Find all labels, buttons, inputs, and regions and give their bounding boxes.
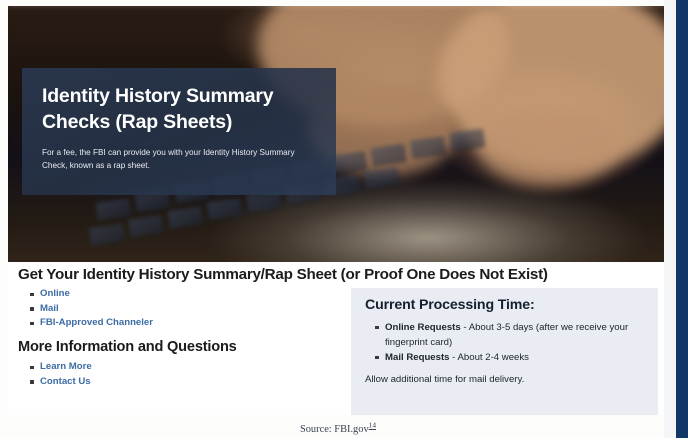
list-item[interactable]: Online bbox=[40, 287, 153, 302]
link-contact-us[interactable]: Contact Us bbox=[40, 376, 91, 387]
panel-title: Current Processing Time: bbox=[365, 297, 644, 313]
source-reference-number[interactable]: 14 bbox=[369, 421, 376, 430]
source-citation: Source: FBI.gov14 bbox=[300, 424, 376, 435]
link-mail[interactable]: Mail bbox=[40, 303, 59, 314]
panel-note: Allow additional time for mail delivery. bbox=[365, 373, 644, 387]
get-rap-sheet-link-list: Online Mail FBI-Approved Channeler bbox=[8, 287, 153, 331]
hero-subtitle: For a fee, the FBI can provide you with … bbox=[42, 147, 310, 172]
source-text: Source: FBI.gov bbox=[300, 424, 369, 435]
page-root: Identity History Summary Checks (Rap She… bbox=[0, 0, 688, 438]
content-area: Get Your Identity History Summary/Rap Sh… bbox=[8, 263, 668, 415]
mail-requests-value: - About 2-4 weeks bbox=[450, 352, 529, 363]
hero-banner: Identity History Summary Checks (Rap She… bbox=[8, 6, 668, 262]
more-information-title: More Information and Questions bbox=[18, 339, 237, 355]
online-requests-label: Online Requests bbox=[385, 322, 461, 333]
list-item: Mail Requests - About 2-4 weeks bbox=[385, 350, 644, 365]
processing-time-list: Online Requests - About 3-5 days (after … bbox=[365, 320, 644, 365]
footer: Source: FBI.gov14 bbox=[0, 416, 676, 438]
link-fbi-approved-channeler[interactable]: FBI-Approved Channeler bbox=[40, 317, 153, 328]
list-item[interactable]: Mail bbox=[40, 302, 153, 317]
right-gutter bbox=[664, 0, 676, 438]
current-processing-time-panel: Current Processing Time: Online Requests… bbox=[351, 288, 658, 415]
hero-text-card: Identity History Summary Checks (Rap She… bbox=[22, 68, 336, 195]
list-item: Online Requests - About 3-5 days (after … bbox=[385, 320, 644, 350]
more-information-link-list: Learn More Contact Us bbox=[8, 360, 92, 389]
list-item[interactable]: Contact Us bbox=[40, 375, 92, 390]
mail-requests-label: Mail Requests bbox=[385, 352, 450, 363]
link-online[interactable]: Online bbox=[40, 288, 70, 299]
right-navy-rail bbox=[676, 0, 688, 438]
page-title: Get Your Identity History Summary/Rap Sh… bbox=[18, 266, 548, 283]
link-learn-more[interactable]: Learn More bbox=[40, 361, 92, 372]
list-item[interactable]: FBI-Approved Channeler bbox=[40, 316, 153, 331]
list-item[interactable]: Learn More bbox=[40, 360, 92, 375]
hero-title: Identity History Summary Checks (Rap She… bbox=[42, 84, 316, 135]
